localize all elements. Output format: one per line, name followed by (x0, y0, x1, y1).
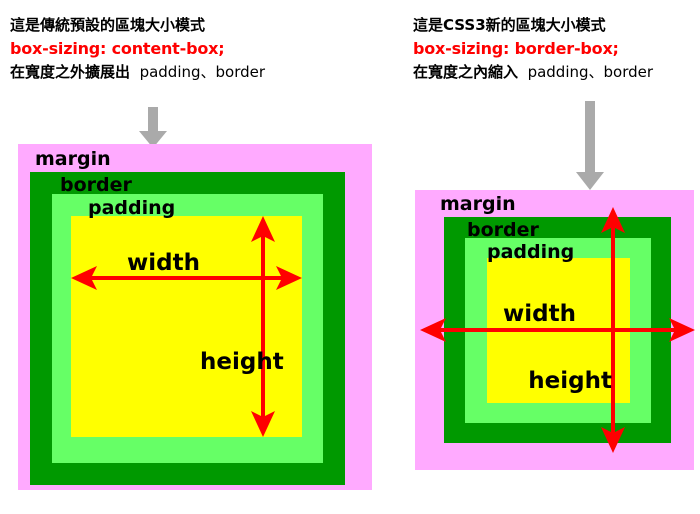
left-caption-line-3: 在寬度之外擴展出 padding、border (10, 65, 265, 80)
right-caption-line-3: 在寬度之內縮入 padding、border (413, 65, 653, 80)
right-caption-line-1: 這是CSS3新的區塊大小模式 (413, 18, 653, 33)
right-height-arrow-icon (597, 207, 629, 453)
right-height-label: height (462, 370, 612, 393)
left-caption-line-3-prefix: 在寬度之外擴展出 (10, 63, 130, 81)
left-width-label: width (127, 252, 200, 275)
left-padding-label: padding (88, 199, 175, 218)
right-caption-line-3-suffix: padding、border (528, 63, 653, 81)
right-caption-code: box-sizing: border-box; (413, 41, 653, 57)
left-height-label: height (200, 351, 284, 374)
left-margin-label: margin (35, 150, 111, 169)
right-width-label: width (503, 303, 576, 326)
left-caption-line-3-suffix: padding、border (140, 63, 265, 81)
right-caption-block: 這是CSS3新的區塊大小模式 box-sizing: border-box; 在… (413, 18, 653, 88)
left-caption-code: box-sizing: content-box; (10, 41, 265, 57)
right-caption-line-3-prefix: 在寬度之內縮入 (413, 63, 518, 81)
left-caption-line-1: 這是傳統預設的區塊大小模式 (10, 18, 265, 33)
right-padding-label: padding (487, 243, 574, 262)
left-height-arrow-icon (247, 216, 279, 437)
right-border-label: border (467, 221, 539, 240)
left-caption-block: 這是傳統預設的區塊大小模式 box-sizing: content-box; 在… (10, 18, 265, 88)
left-border-label: border (60, 176, 132, 195)
right-down-arrow-icon (575, 101, 605, 191)
left-down-arrow-icon (138, 107, 168, 149)
right-margin-label: margin (440, 195, 516, 214)
box-sizing-comparison-diagram: 這是傳統預設的區塊大小模式 box-sizing: content-box; 在… (0, 0, 700, 514)
